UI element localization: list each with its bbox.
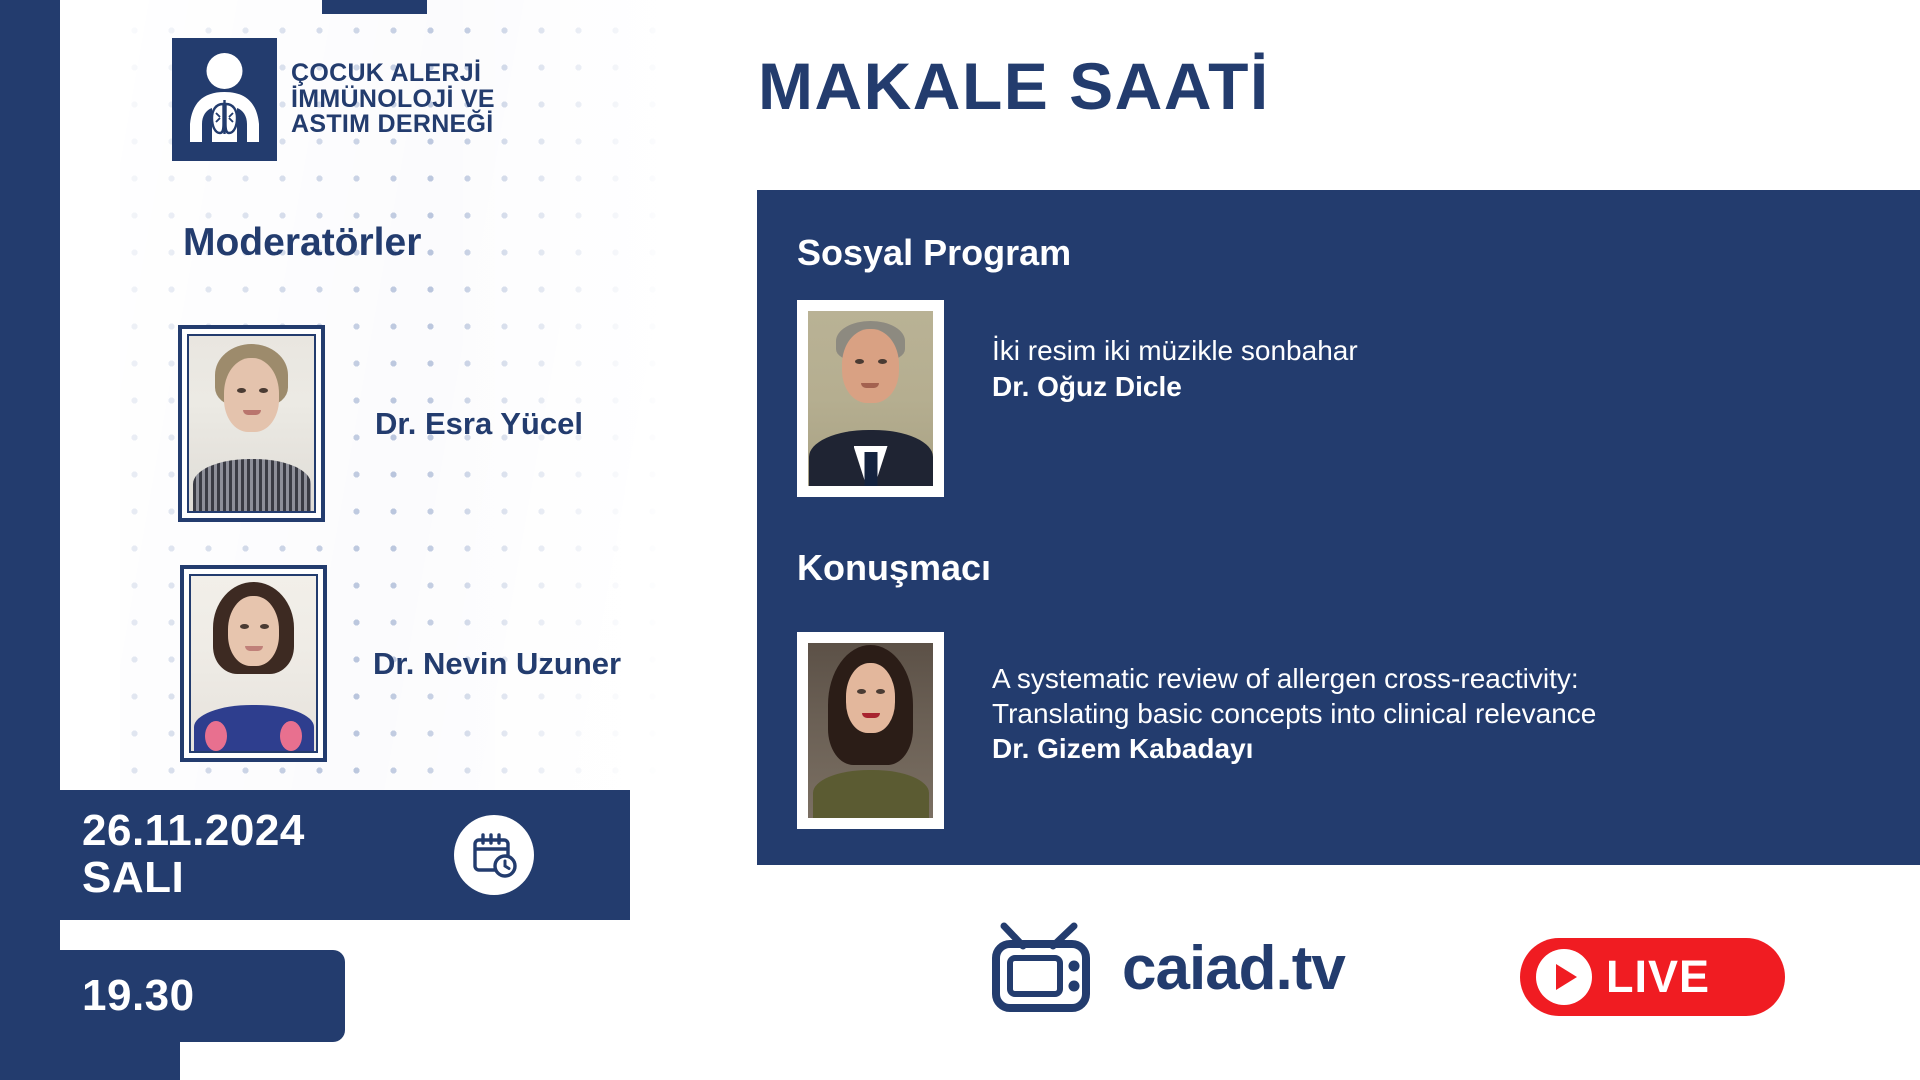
child-lungs-icon xyxy=(172,38,277,161)
logo-line-3: ASTIM DERNEĞİ xyxy=(291,112,495,138)
play-icon xyxy=(1536,949,1592,1005)
program-item-presenter: Dr. Gizem Kabadayı xyxy=(992,733,1596,765)
event-time: 19.30 xyxy=(82,971,195,1021)
avatar xyxy=(178,325,325,522)
logo-line-2: İMMÜNOLOJİ VE xyxy=(291,87,495,113)
date-block: 26.11.2024 SALI xyxy=(0,790,630,920)
logo-line-1: ÇOCUK ALERJİ xyxy=(291,61,495,87)
avatar xyxy=(797,632,944,829)
television-icon xyxy=(990,920,1106,1016)
portrait-esra-yucel xyxy=(189,336,314,511)
moderator-row: Dr. Nevin Uzuner xyxy=(180,565,621,762)
association-logo: ÇOCUK ALERJİ İMMÜNOLOJİ VE ASTIM DERNEĞİ xyxy=(172,38,495,161)
footer-brand[interactable]: caiad.tv xyxy=(990,920,1345,1016)
section-heading-sosyal-program: Sosyal Program xyxy=(797,232,1071,274)
program-item-text: A systematic review of allergen cross-re… xyxy=(992,632,1596,765)
avatar xyxy=(797,300,944,497)
program-item-title-line1: A systematic review of allergen cross-re… xyxy=(992,662,1596,697)
live-label: LIVE xyxy=(1606,951,1710,1003)
portrait-oguz-dicle xyxy=(808,311,933,486)
program-item-text: İki resim iki müzikle sonbahar Dr. Oğuz … xyxy=(992,300,1358,403)
program-item: İki resim iki müzikle sonbahar Dr. Oğuz … xyxy=(797,300,1358,497)
logo-text-block: ÇOCUK ALERJİ İMMÜNOLOJİ VE ASTIM DERNEĞİ xyxy=(291,61,495,138)
date-text-wrap: 26.11.2024 SALI xyxy=(82,808,305,901)
moderator-row: Dr. Esra Yücel xyxy=(178,325,583,522)
left-rail-bottom-block xyxy=(0,1040,180,1080)
portrait-gizem-kabadayi xyxy=(808,643,933,818)
page-title: MAKALE SAATİ xyxy=(758,48,1270,124)
portrait-nevin-uzuner xyxy=(191,576,316,751)
program-item-presenter: Dr. Oğuz Dicle xyxy=(992,371,1358,403)
moderators-heading: Moderatörler xyxy=(183,221,421,265)
calendar-clock-icon xyxy=(454,815,534,895)
program-item-title: İki resim iki müzikle sonbahar xyxy=(992,334,1358,369)
moderator-name: Dr. Esra Yücel xyxy=(375,406,583,442)
brand-text: caiad.tv xyxy=(1122,933,1345,1004)
time-block: 19.30 xyxy=(0,950,345,1042)
top-navy-tab xyxy=(322,0,427,14)
live-badge[interactable]: LIVE xyxy=(1520,938,1785,1016)
section-heading-konusmaci: Konuşmacı xyxy=(797,547,991,589)
event-date: 26.11.2024 xyxy=(82,808,305,855)
event-day: SALI xyxy=(82,855,305,902)
avatar xyxy=(180,565,327,762)
program-item: A systematic review of allergen cross-re… xyxy=(797,632,1596,829)
program-item-title-line2: Translating basic concepts into clinical… xyxy=(992,697,1596,732)
moderator-name: Dr. Nevin Uzuner xyxy=(373,646,621,682)
